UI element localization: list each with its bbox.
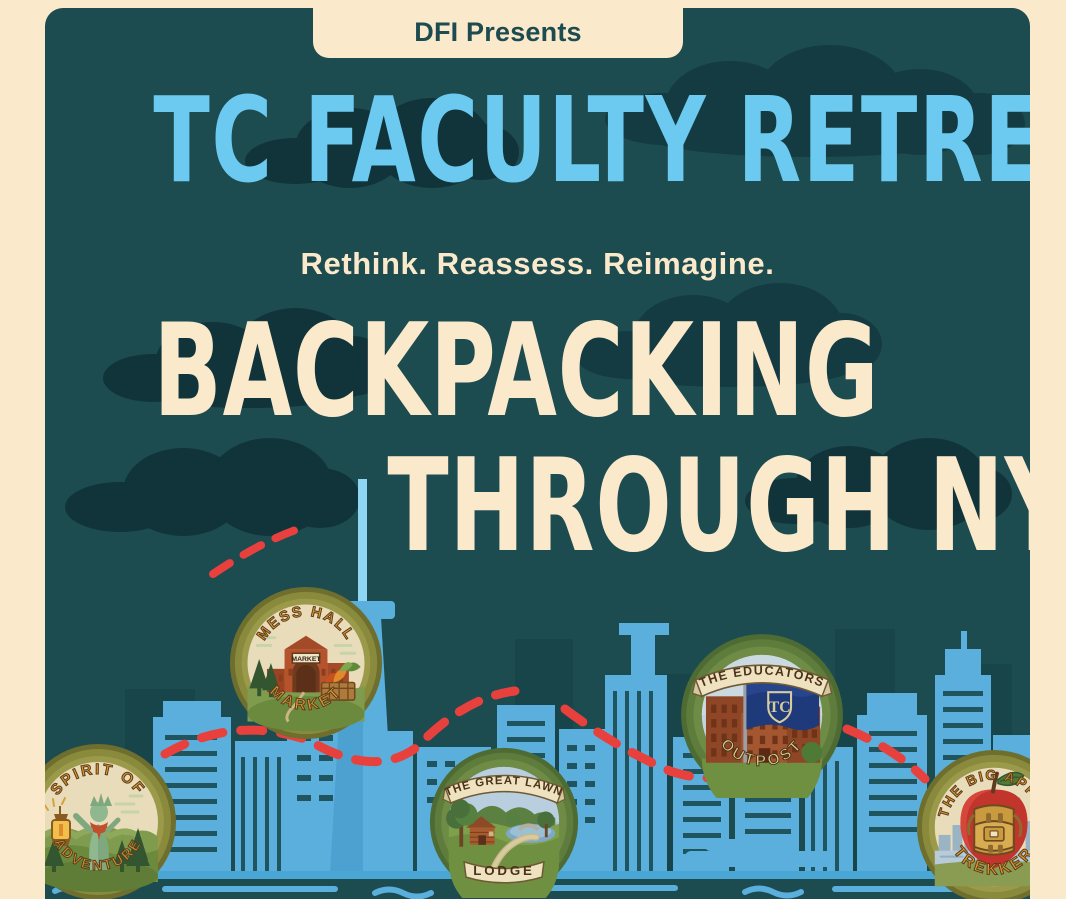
flag-monogram: TC (769, 699, 791, 716)
headline-line-1: BACKPACKING (153, 313, 921, 431)
market-sign-text: MARKET (291, 656, 321, 663)
badge-bottom-text: LODGE (473, 863, 535, 878)
backpack-icon (969, 805, 1021, 854)
badge-spirit-of-adventure[interactable]: SPIRIT OF ADVENTURE (45, 742, 178, 899)
presenter-banner: DFI Presents (313, 0, 683, 58)
page-title: TC FACULTY RETREAT: (153, 86, 921, 195)
badge-the-great-lawn-lodge[interactable]: THE GREAT LAWN LODGE (428, 746, 580, 898)
badge-the-big-apple-trekker[interactable]: THE BIG APPLE TREKKER (915, 748, 1030, 899)
badge-the-educators-outpost[interactable]: TC THE EDUCATORS (679, 632, 845, 798)
poster-panel: TC FACULTY RETREAT: Rethink. Reassess. R… (45, 8, 1030, 899)
headline-line-2: THROUGH NYC (153, 448, 921, 566)
poster-canvas: TC FACULTY RETREAT: Rethink. Reassess. R… (0, 0, 1066, 899)
poster-subtitle: Rethink. Reassess. Reimagine. (45, 246, 1030, 282)
presenter-label: DFI Presents (414, 17, 581, 48)
badge-mess-hall-market[interactable]: MARKET (228, 585, 384, 741)
